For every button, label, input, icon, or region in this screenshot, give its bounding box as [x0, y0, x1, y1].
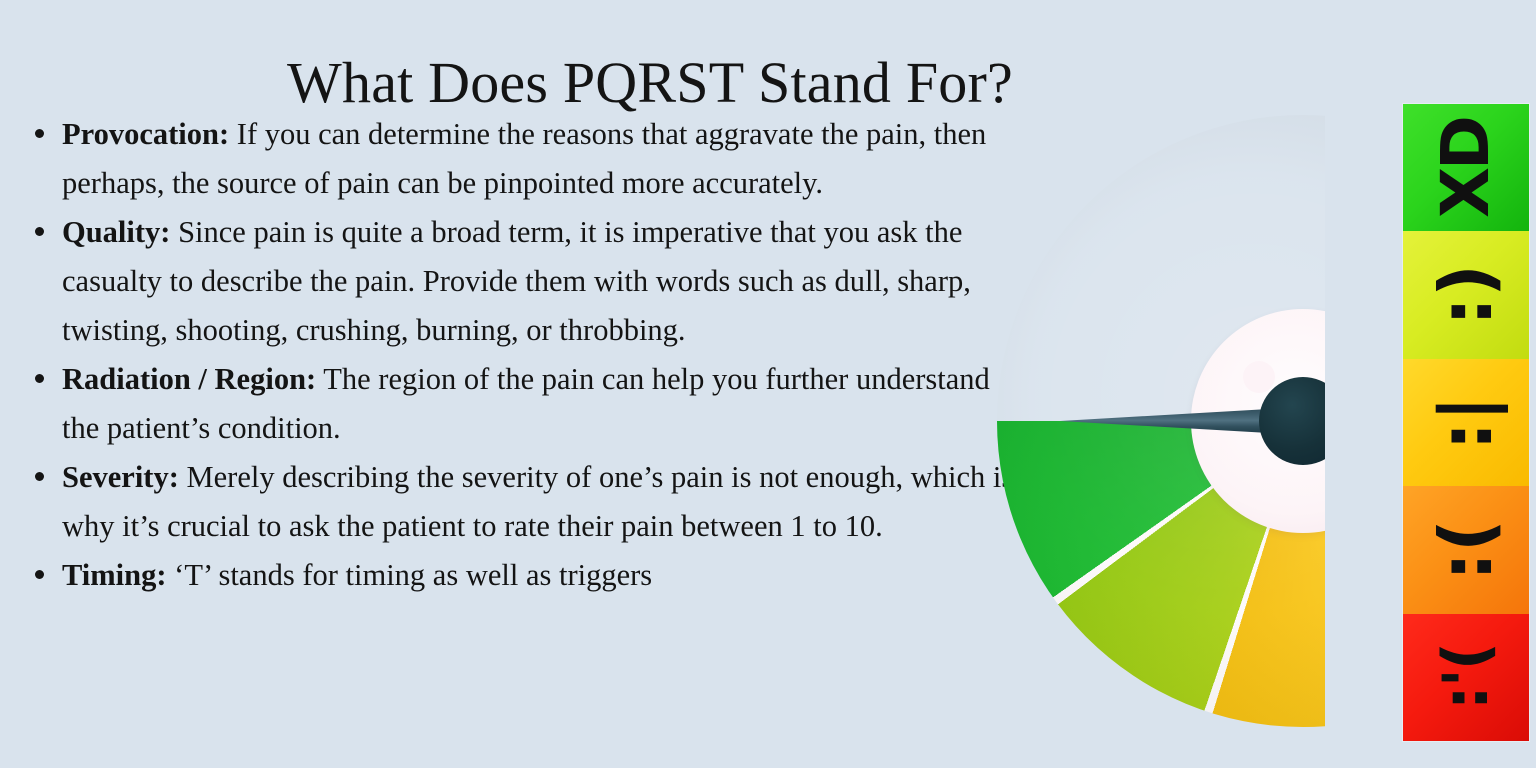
bullet-label: Quality:: [62, 215, 170, 249]
gauge-hub-hole: [1243, 361, 1275, 393]
pain-severity-gauge: [970, 88, 1325, 756]
bullet-dot-icon: [35, 570, 44, 579]
bullet-label: Timing:: [62, 558, 167, 592]
list-item: Quality: Since pain is quite a broad ter…: [24, 208, 1014, 355]
bullet-dot-icon: [35, 227, 44, 236]
face-tile-severe-pain[interactable]: :(: [1403, 486, 1529, 613]
bullet-dot-icon: [35, 374, 44, 383]
list-item: Radiation / Region: The region of the pa…: [24, 355, 1014, 453]
bullet-text: ‘T’ stands for timing as well as trigger…: [167, 558, 653, 592]
pain-face-scale: XD :) :| :( :'(: [1403, 104, 1529, 741]
bullet-dot-icon: [35, 472, 44, 481]
list-item: Severity: Merely describing the severity…: [24, 453, 1014, 551]
bullet-label: Radiation / Region:: [62, 362, 316, 396]
face-tile-mild-pain[interactable]: :): [1403, 231, 1529, 358]
list-item: Provocation: If you can determine the re…: [24, 110, 1014, 208]
list-item: Timing: ‘T’ stands for timing as well as…: [24, 551, 1014, 600]
neutral-face-icon: :|: [1430, 395, 1502, 450]
face-tile-worst-pain[interactable]: :'(: [1403, 614, 1529, 741]
face-tile-no-pain[interactable]: XD: [1403, 104, 1529, 231]
crying-face-icon: :'(: [1435, 644, 1497, 710]
bullet-text: Since pain is quite a broad term, it is …: [62, 215, 971, 347]
laughing-face-icon: XD: [1433, 118, 1499, 218]
pqrst-bullet-list: Provocation: If you can determine the re…: [24, 110, 1014, 600]
bullet-label: Provocation:: [62, 117, 229, 151]
smiling-face-icon: :): [1430, 264, 1502, 326]
face-tile-moderate-pain[interactable]: :|: [1403, 359, 1529, 486]
frowning-face-icon: :(: [1430, 519, 1502, 581]
bullet-dot-icon: [35, 129, 44, 138]
bullet-label: Severity:: [62, 460, 179, 494]
gauge-stage: [970, 88, 1325, 756]
bullet-text: Merely describing the severity of one’s …: [62, 460, 1013, 543]
